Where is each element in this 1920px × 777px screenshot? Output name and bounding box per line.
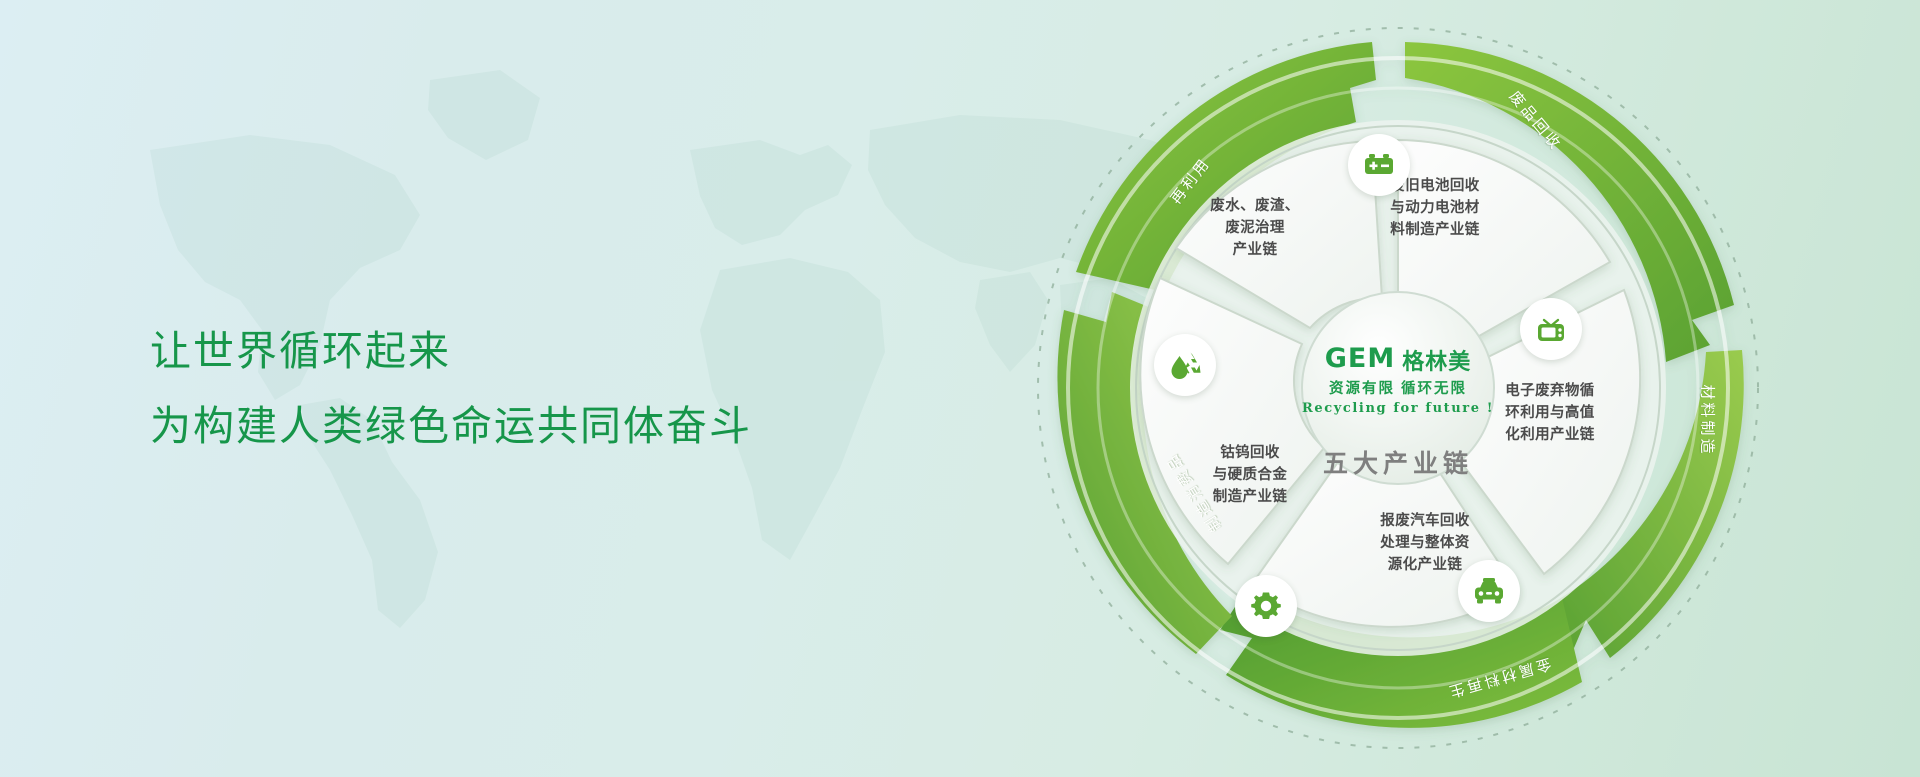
car-icon-bubble (1458, 560, 1520, 622)
television-icon (1533, 311, 1569, 347)
headline-line-2: 为构建人类绿色命运共同体奋斗 (150, 397, 752, 456)
gem-slogan-cn: 资源有限 循环无限 (1273, 377, 1523, 398)
gem-wordmark: GEM (1325, 345, 1395, 372)
ring-label-material: 材料制造 (1698, 384, 1719, 456)
hero-banner: 让世界循环起来 为构建人类绿色命运共同体奋斗 (0, 0, 1920, 777)
gem-slogan-en: Recycling for future ! (1273, 401, 1523, 416)
recycle-drop-icon-bubble (1154, 334, 1216, 396)
headline-line-1: 让世界循环起来 (150, 322, 752, 381)
recycle-drop-icon (1166, 346, 1204, 384)
battery-icon-bubble (1348, 134, 1410, 196)
car-icon (1470, 572, 1508, 610)
gear-icon (1248, 588, 1284, 624)
television-icon-bubble (1520, 298, 1582, 360)
center-title: 五大产业链 (1273, 444, 1523, 480)
battery-icon (1361, 147, 1397, 183)
headline: 让世界循环起来 为构建人类绿色命运共同体奋斗 (150, 322, 752, 457)
gear-icon-bubble (1235, 575, 1297, 637)
sector-text-water: 废水、废渣、 废泥治理 产业链 (1185, 195, 1325, 261)
center-logo: GEM 格林美 资源有限 循环无限 Recycling for future !… (1273, 345, 1523, 480)
gem-company-cn: 格林美 (1402, 351, 1471, 373)
five-industry-chain-diagram: 再利用 废品回收 材料制造 金属材料再生 制造消费品 废水、废渣、 废泥治理 产… (1020, 10, 1780, 770)
